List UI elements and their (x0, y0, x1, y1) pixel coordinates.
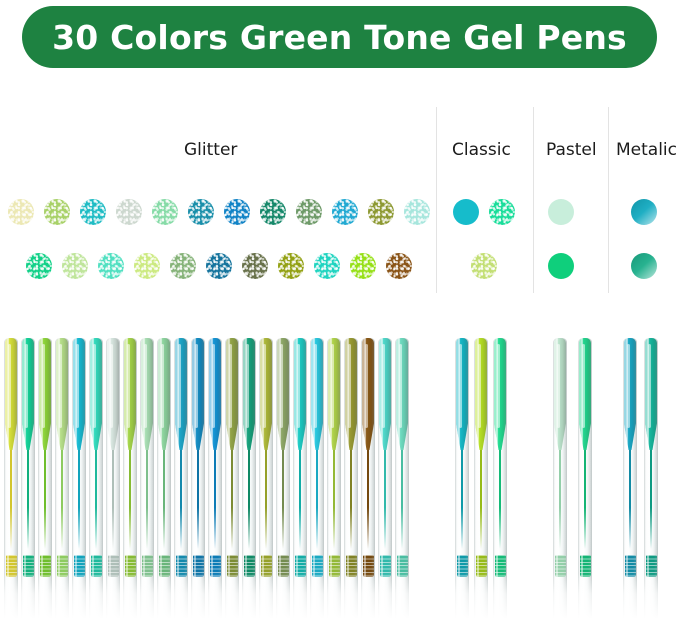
gel-pen-glitter-11 (191, 338, 205, 619)
color-swatch-glitter-row1-1 (44, 199, 70, 225)
pen-shadow (235, 338, 239, 619)
pen-shadow (252, 338, 256, 619)
gel-pen-pastel-1 (578, 338, 592, 619)
pen-highlight (160, 338, 162, 619)
pen-highlight (41, 338, 43, 619)
gel-pen-glitter-8 (140, 338, 154, 619)
color-swatch-glitter-row2-5 (206, 253, 232, 279)
pen-highlight (364, 338, 366, 619)
gel-pen-glitter-21 (361, 338, 375, 619)
pen-shadow (99, 338, 103, 619)
color-swatch-classic-row1-0 (453, 199, 479, 225)
pen-shadow (563, 338, 567, 619)
pen-shadow (65, 338, 69, 619)
divider-classic (436, 107, 437, 293)
pen-shadow (465, 338, 469, 619)
pen-shadow (371, 338, 375, 619)
pen-ink-refill (61, 440, 64, 549)
pen-highlight (313, 338, 315, 619)
pen-ink-refill (180, 440, 183, 549)
pen-shadow (184, 338, 188, 619)
category-label-pastel: Pastel (546, 140, 597, 160)
pen-ink-refill (333, 440, 336, 549)
pen-ink-refill (197, 440, 200, 549)
category-label-classic: Classic (452, 140, 511, 160)
pen-shadow (150, 338, 154, 619)
color-swatch-pastel-row2-0 (548, 253, 574, 279)
gel-pen-metalic-1 (644, 338, 658, 619)
color-swatch-glitter-row1-0 (8, 199, 34, 225)
gel-pen-classic-0 (455, 338, 469, 619)
gel-pen-glitter-7 (123, 338, 137, 619)
pen-ink-refill (584, 440, 587, 549)
pen-highlight (7, 338, 9, 619)
pen-ink-refill (629, 440, 632, 549)
pen-shadow (337, 338, 341, 619)
pen-highlight (458, 338, 460, 619)
product-image: 30 Colors Green Tone Gel Pens GlitterCla… (0, 0, 679, 619)
color-swatch-glitter-row2-1 (62, 253, 88, 279)
color-swatch-glitter-row2-10 (386, 253, 412, 279)
gel-pen-classic-2 (493, 338, 507, 619)
color-swatch-glitter-row1-3 (116, 199, 142, 225)
gel-pen-metalic-0 (623, 338, 637, 619)
gel-pen-glitter-0 (4, 338, 18, 619)
pen-ink-refill (282, 440, 285, 549)
pen-ink-refill (299, 440, 302, 549)
pen-shadow (484, 338, 488, 619)
color-swatch-glitter-row2-3 (134, 253, 160, 279)
pen-highlight (126, 338, 128, 619)
gel-pen-glitter-14 (242, 338, 256, 619)
pen-highlight (556, 338, 558, 619)
pen-ink-refill (367, 440, 370, 549)
pen-highlight (24, 338, 26, 619)
gel-pen-glitter-20 (344, 338, 358, 619)
pen-shadow (388, 338, 392, 619)
pen-ink-refill (265, 440, 268, 549)
gel-pen-glitter-9 (157, 338, 171, 619)
color-swatch-metalic-row1-1 (631, 253, 657, 279)
divider-metalic (608, 107, 609, 293)
gel-pen-glitter-17 (293, 338, 307, 619)
color-swatch-glitter-row2-2 (98, 253, 124, 279)
pen-shadow (201, 338, 205, 619)
pen-highlight (177, 338, 179, 619)
gel-pen-glitter-1 (21, 338, 35, 619)
title-banner: 30 Colors Green Tone Gel Pens (22, 6, 657, 68)
pen-highlight (211, 338, 213, 619)
pen-ink-refill (10, 440, 13, 549)
pen-shadow (405, 338, 409, 619)
pen-highlight (245, 338, 247, 619)
pen-shadow (218, 338, 222, 619)
color-swatch-classic-row2-0 (471, 253, 497, 279)
pen-ink-refill (384, 440, 387, 549)
pen-highlight (496, 338, 498, 619)
pen-highlight (398, 338, 400, 619)
pen-shadow (167, 338, 171, 619)
gel-pen-pastel-0 (553, 338, 567, 619)
pen-ink-refill (316, 440, 319, 549)
color-swatch-glitter-row2-0 (26, 253, 52, 279)
pen-shadow (303, 338, 307, 619)
pen-ink-refill (163, 440, 166, 549)
pen-shadow (48, 338, 52, 619)
color-swatch-glitter-row1-6 (224, 199, 250, 225)
pen-ink-refill (44, 440, 47, 549)
pen-shadow (31, 338, 35, 619)
pen-highlight (279, 338, 281, 619)
divider-pastel (533, 107, 534, 293)
color-swatch-pastel-row1-0 (548, 199, 574, 225)
gel-pen-glitter-6 (106, 338, 120, 619)
pen-ink-refill (112, 440, 115, 549)
pen-shadow (320, 338, 324, 619)
color-swatch-classic-row1-1 (489, 199, 515, 225)
gel-pen-glitter-4 (72, 338, 86, 619)
pen-ink-refill (499, 440, 502, 549)
pen-shadow (633, 338, 637, 619)
color-swatch-glitter-row1-7 (260, 199, 286, 225)
category-label-glitter: Glitter (184, 140, 237, 160)
pen-ink-refill (146, 440, 149, 549)
gel-pen-glitter-18 (310, 338, 324, 619)
pen-highlight (194, 338, 196, 619)
gel-pen-glitter-23 (395, 338, 409, 619)
pen-ink-refill (129, 440, 132, 549)
pen-highlight (647, 338, 649, 619)
page-title: 30 Colors Green Tone Gel Pens (52, 18, 627, 57)
pen-ink-refill (650, 440, 653, 549)
pen-ink-refill (480, 440, 483, 549)
gel-pen-glitter-3 (55, 338, 69, 619)
color-swatch-glitter-row2-9 (350, 253, 376, 279)
gel-pen-glitter-5 (89, 338, 103, 619)
color-swatch-glitter-row1-9 (332, 199, 358, 225)
pen-highlight (109, 338, 111, 619)
pen-ink-refill (27, 440, 30, 549)
pen-highlight (262, 338, 264, 619)
pen-highlight (477, 338, 479, 619)
color-swatch-glitter-row2-7 (278, 253, 304, 279)
color-swatch-glitter-row1-2 (80, 199, 106, 225)
pen-ink-refill (350, 440, 353, 549)
pen-shadow (133, 338, 137, 619)
color-swatch-glitter-row1-8 (296, 199, 322, 225)
gel-pen-glitter-2 (38, 338, 52, 619)
gel-pen-glitter-10 (174, 338, 188, 619)
pen-highlight (143, 338, 145, 619)
pen-highlight (58, 338, 60, 619)
color-swatch-glitter-row2-4 (170, 253, 196, 279)
gel-pen-glitter-12 (208, 338, 222, 619)
pen-highlight (347, 338, 349, 619)
pen-ink-refill (401, 440, 404, 549)
pen-shadow (588, 338, 592, 619)
category-label-metalic: Metalic (616, 140, 677, 160)
pen-ink-refill (461, 440, 464, 549)
color-swatch-glitter-row1-11 (404, 199, 430, 225)
color-swatch-glitter-row1-10 (368, 199, 394, 225)
pen-shadow (116, 338, 120, 619)
pen-ink-refill (559, 440, 562, 549)
pen-shadow (286, 338, 290, 619)
pen-shadow (354, 338, 358, 619)
gel-pen-glitter-22 (378, 338, 392, 619)
pen-highlight (381, 338, 383, 619)
color-swatch-glitter-row2-6 (242, 253, 268, 279)
pen-ink-refill (231, 440, 234, 549)
gel-pen-glitter-16 (276, 338, 290, 619)
pen-highlight (75, 338, 77, 619)
pen-shadow (82, 338, 86, 619)
gel-pen-glitter-19 (327, 338, 341, 619)
pen-highlight (296, 338, 298, 619)
color-swatch-glitter-row2-8 (314, 253, 340, 279)
pen-shadow (269, 338, 273, 619)
pen-shadow (14, 338, 18, 619)
pen-highlight (228, 338, 230, 619)
pen-highlight (581, 338, 583, 619)
color-swatch-metalic-row1-0 (631, 199, 657, 225)
pen-highlight (92, 338, 94, 619)
pen-ink-refill (214, 440, 217, 549)
gel-pen-glitter-13 (225, 338, 239, 619)
color-swatch-glitter-row1-5 (188, 199, 214, 225)
pen-highlight (330, 338, 332, 619)
pen-ink-refill (248, 440, 251, 549)
pen-shadow (503, 338, 507, 619)
pen-ink-refill (95, 440, 98, 549)
gel-pen-classic-1 (474, 338, 488, 619)
gel-pen-glitter-15 (259, 338, 273, 619)
pen-shadow (654, 338, 658, 619)
pen-highlight (626, 338, 628, 619)
color-swatch-glitter-row1-4 (152, 199, 178, 225)
pen-ink-refill (78, 440, 81, 549)
